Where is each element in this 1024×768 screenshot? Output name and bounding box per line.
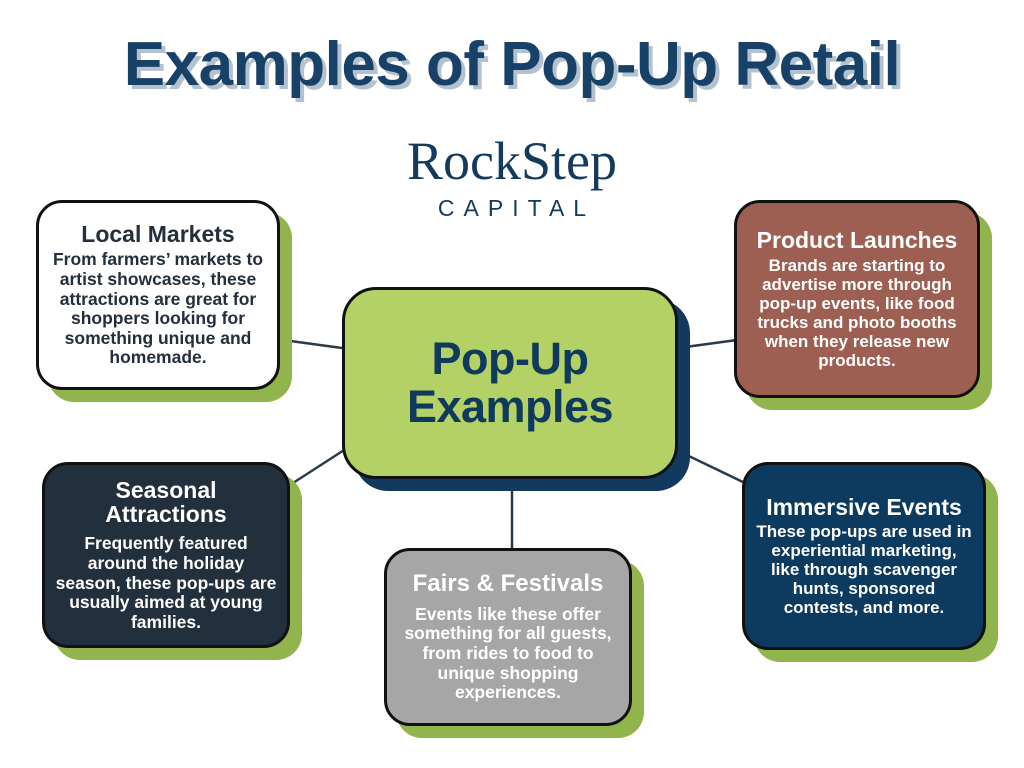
page-title: Examples of Pop-Up Retail <box>0 34 1024 96</box>
seasonal-attractions-description: Frequently featured around the holiday s… <box>55 534 277 632</box>
immersive-events-description: These pop-ups are used in experiential m… <box>755 522 973 617</box>
node-local-markets[interactable]: Local Markets From farmers’ markets to a… <box>36 200 280 390</box>
seasonal-attractions-title: Seasonal Attractions <box>55 478 277 527</box>
fairs-festivals-title: Fairs & Festivals <box>413 571 604 596</box>
fairs-festivals-description: Events like these offer something for al… <box>397 605 619 703</box>
logo-wordmark: RockStep <box>0 134 1024 188</box>
immersive-events-title: Immersive Events <box>766 495 962 519</box>
center-node-title: Pop-Up Examples <box>355 335 665 430</box>
local-markets-description: From farmers’ markets to artist showcase… <box>49 250 267 368</box>
node-product-launches[interactable]: Product Launches Brands are starting to … <box>734 200 980 398</box>
node-immersive-events[interactable]: Immersive Events These pop-ups are used … <box>742 462 986 650</box>
node-fairs-festivals[interactable]: Fairs & Festivals Events like these offe… <box>384 548 632 726</box>
node-seasonal-attractions[interactable]: Seasonal Attractions Frequently featured… <box>42 462 290 648</box>
center-node-pop-up-examples[interactable]: Pop-Up Examples <box>342 287 678 479</box>
product-launches-description: Brands are starting to advertise more th… <box>747 256 967 370</box>
local-markets-title: Local Markets <box>81 222 234 246</box>
product-launches-title: Product Launches <box>757 228 958 252</box>
